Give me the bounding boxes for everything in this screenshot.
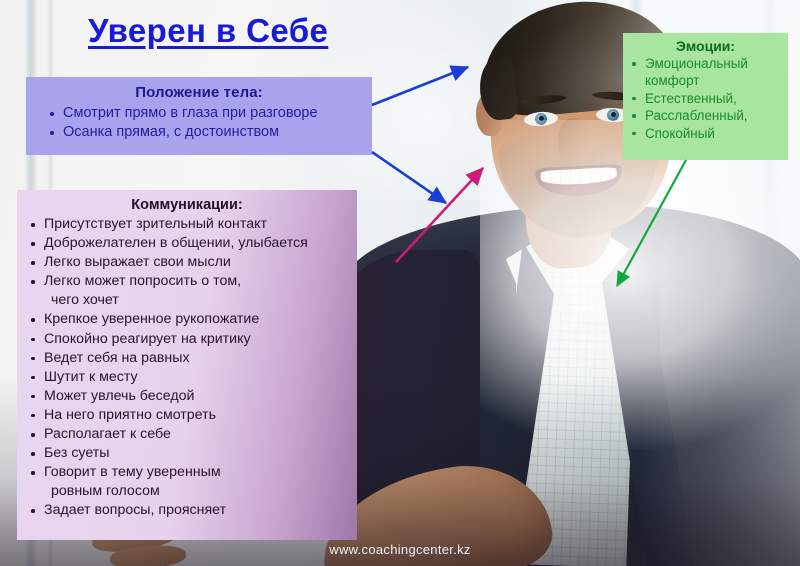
emotions-box-title: Эмоции:	[623, 38, 788, 54]
list-item: Располагает к себе	[29, 425, 353, 444]
list-item: Шутит к месту	[29, 368, 353, 387]
list-item: Легко выражает свои мысли	[29, 253, 353, 272]
list-item: Может увлечь беседой	[29, 387, 353, 406]
list-item: Естественный,	[631, 90, 786, 107]
slide-canvas: Уверен в Себе Положение тела: Смотрит пр…	[0, 0, 800, 566]
posture-box: Положение тела: Смотрит прямо в глаза пр…	[26, 77, 372, 155]
list-item-continuation: чего хочет	[29, 291, 353, 310]
list-item: Легко может попросить о том,	[29, 272, 353, 291]
page-title: Уверен в Себе	[88, 12, 328, 50]
list-item: Эмоциональный	[631, 55, 786, 72]
list-item: На него приятно смотреть	[29, 406, 353, 425]
list-item: Осанка прямая, с достоинством	[50, 123, 366, 142]
list-item: Говорит в тему уверенным	[29, 463, 353, 482]
posture-box-title: Положение тела:	[26, 84, 372, 101]
list-item: Крепкое уверенное рукопожатие	[29, 310, 353, 329]
list-item: Ведет себя на равных	[29, 349, 353, 368]
list-item: Спокойный	[631, 125, 786, 142]
emotions-list: Эмоциональный комфорт Естественный, Расс…	[623, 55, 788, 142]
list-item: Смотрит прямо в глаза при разговоре	[50, 104, 366, 123]
emotions-box: Эмоции: Эмоциональный комфорт Естественн…	[623, 33, 788, 160]
list-item: Без суеты	[29, 444, 353, 463]
list-item-continuation: комфорт	[631, 72, 786, 89]
list-item: Задает вопросы, проясняет	[29, 501, 353, 520]
communication-list: Присутствует зрительный контакт Доброжел…	[17, 215, 357, 521]
communication-box: Коммуникации: Присутствует зрительный ко…	[17, 190, 357, 540]
pupil	[611, 112, 616, 117]
footer-url: www.coachingcenter.kz	[0, 542, 800, 557]
list-item: Спокойно реагирует на критику	[29, 330, 353, 349]
list-item: Присутствует зрительный контакт	[29, 215, 353, 234]
list-item-continuation: ровным голосом	[29, 482, 353, 501]
list-item: Расслабленный,	[631, 107, 786, 124]
communication-box-title: Коммуникации:	[17, 197, 357, 213]
posture-list: Смотрит прямо в глаза при разговоре Осан…	[26, 104, 372, 143]
list-item: Доброжелателен в общении, улыбается	[29, 234, 353, 253]
